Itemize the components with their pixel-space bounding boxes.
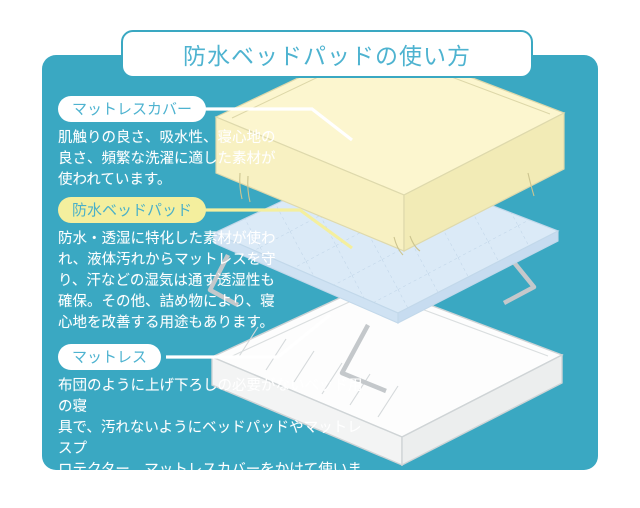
badge-waterproof-bed-pad: 防水ベッドパッド xyxy=(58,197,206,223)
badge-mattress: マットレス xyxy=(58,344,161,370)
section-waterproof-bed-pad: 防水ベッドパッド 防水・透湿に特化した素材が使わ れ、液体汚れからマットレスを守… xyxy=(58,197,290,334)
page-title: 防水ベッドパッドの使い方 xyxy=(121,30,533,78)
infographic-root: 防水ベッドパッドの使い方 マットレスカバー 肌触りの良さ、吸水性、寝心地の 良さ… xyxy=(0,0,640,508)
body-waterproof-bed-pad: 防水・透湿に特化した素材が使わ れ、液体汚れからマットレスを守 り、汗などの湿気… xyxy=(58,229,290,334)
page-title-text: 防水ベッドパッドの使い方 xyxy=(183,37,471,71)
body-mattress-cover: 肌触りの良さ、吸水性、寝心地の 良さ、頻繁な洗濯に適した素材が 使われています。 xyxy=(58,128,288,191)
body-mattress: 布団のように上げ下ろしの必要がないベッド用の寝 具で、汚れないようにベッドパッド… xyxy=(58,376,370,502)
section-mattress: マットレス 布団のように上げ下ろしの必要がないベッド用の寝 具で、汚れないように… xyxy=(58,344,370,502)
badge-mattress-cover: マットレスカバー xyxy=(58,96,206,122)
section-mattress-cover: マットレスカバー 肌触りの良さ、吸水性、寝心地の 良さ、頻繁な洗濯に適した素材が… xyxy=(58,96,288,191)
